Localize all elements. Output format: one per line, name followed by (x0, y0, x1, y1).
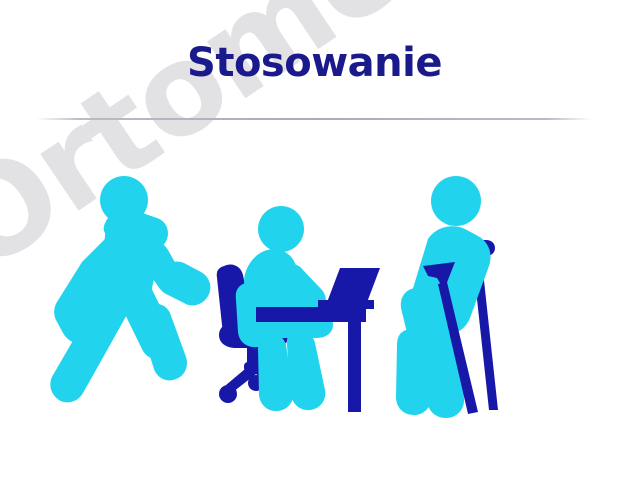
walking-person-front-shin (139, 304, 187, 381)
seated-person-head (258, 206, 304, 252)
desk-top-extension (258, 307, 364, 322)
person-at-desk-figure (217, 206, 380, 412)
person-with-crutches-figure (396, 176, 498, 418)
page-title: Stosowanie (0, 42, 629, 84)
title-block: Stosowanie (0, 42, 629, 84)
slide-canvas: Ortomedico.pl Stosowanie (0, 0, 629, 493)
laptop-base (318, 300, 374, 309)
desk-leg (348, 320, 361, 412)
walking-person-front-forearm (158, 261, 211, 305)
laptop-screen (326, 268, 380, 305)
walking-person-figure (50, 176, 210, 402)
standing-person-head (431, 176, 481, 226)
laptop (318, 268, 380, 309)
standing-person-leg-back (396, 329, 431, 415)
title-underline-rule (36, 118, 592, 120)
walking-person-head (100, 176, 148, 224)
office-chair-caster-left (219, 385, 237, 403)
